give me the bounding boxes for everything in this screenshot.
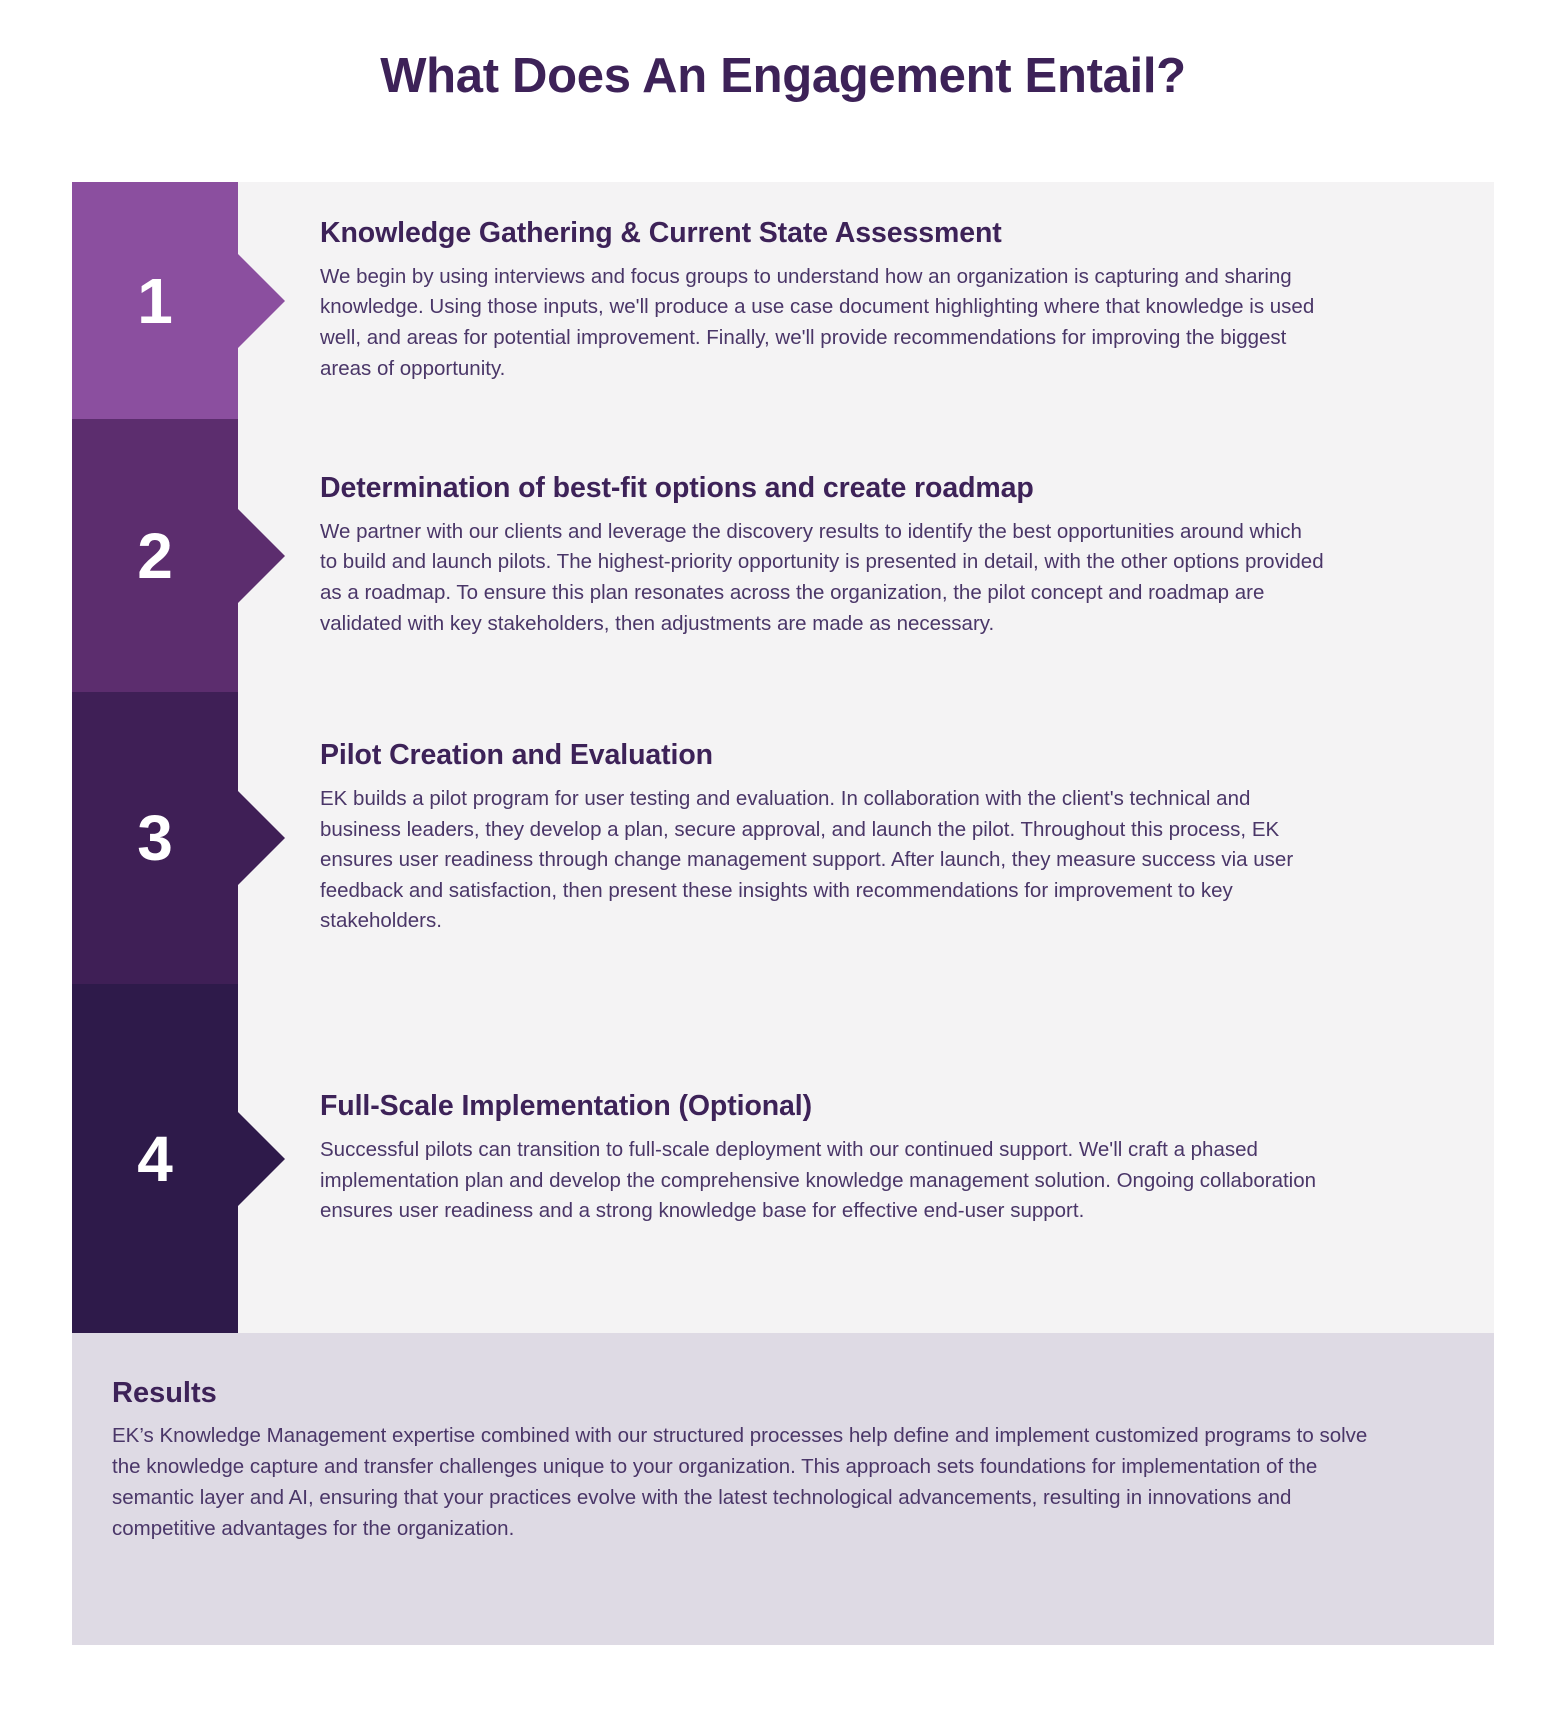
results-description: EK’s Knowledge Management expertise comb… [112,1420,1384,1545]
step-arrow-icon [238,509,285,603]
step-row: 4 Full-Scale Implementation (Optional) S… [72,984,1494,1333]
step-heading: Determination of best-fit options and cr… [320,472,1324,505]
step-arrow-icon [238,1112,285,1206]
step-content: Determination of best-fit options and cr… [320,419,1494,692]
step-number-block: 3 [72,692,238,984]
step-number-label: 3 [72,806,238,870]
step-number-label: 2 [72,524,238,588]
step-content: Full-Scale Implementation (Optional) Suc… [320,984,1494,1333]
steps-panel: 1 Knowledge Gathering & Current State As… [72,182,1494,1333]
step-number-label: 1 [72,269,238,333]
step-number-block: 2 [72,419,238,692]
results-heading: Results [112,1377,1384,1410]
step-row: 2 Determination of best-fit options and … [72,419,1494,692]
step-row: 1 Knowledge Gathering & Current State As… [72,182,1494,419]
step-heading: Pilot Creation and Evaluation [320,739,1324,772]
step-description: We begin by using interviews and focus g… [320,262,1324,384]
results-panel: Results EK’s Knowledge Management expert… [72,1333,1494,1645]
step-description: We partner with our clients and leverage… [320,517,1324,639]
step-number-label: 4 [72,1127,238,1191]
page-title: What Does An Engagement Entail? [0,48,1566,104]
step-row: 3 Pilot Creation and Evaluation EK build… [72,692,1494,984]
step-number-block: 1 [72,182,238,419]
step-content: Knowledge Gathering & Current State Asse… [320,182,1494,419]
step-heading: Knowledge Gathering & Current State Asse… [320,217,1324,250]
step-description: EK builds a pilot program for user testi… [320,784,1324,937]
step-arrow-icon [238,791,285,885]
results-content: Results EK’s Knowledge Management expert… [112,1377,1384,1545]
step-heading: Full-Scale Implementation (Optional) [320,1090,1324,1123]
infographic-page: What Does An Engagement Entail? 1 Knowle… [0,0,1566,1719]
step-content: Pilot Creation and Evaluation EK builds … [320,692,1494,984]
step-arrow-icon [238,254,285,348]
step-description: Successful pilots can transition to full… [320,1135,1324,1227]
step-number-block: 4 [72,984,238,1333]
